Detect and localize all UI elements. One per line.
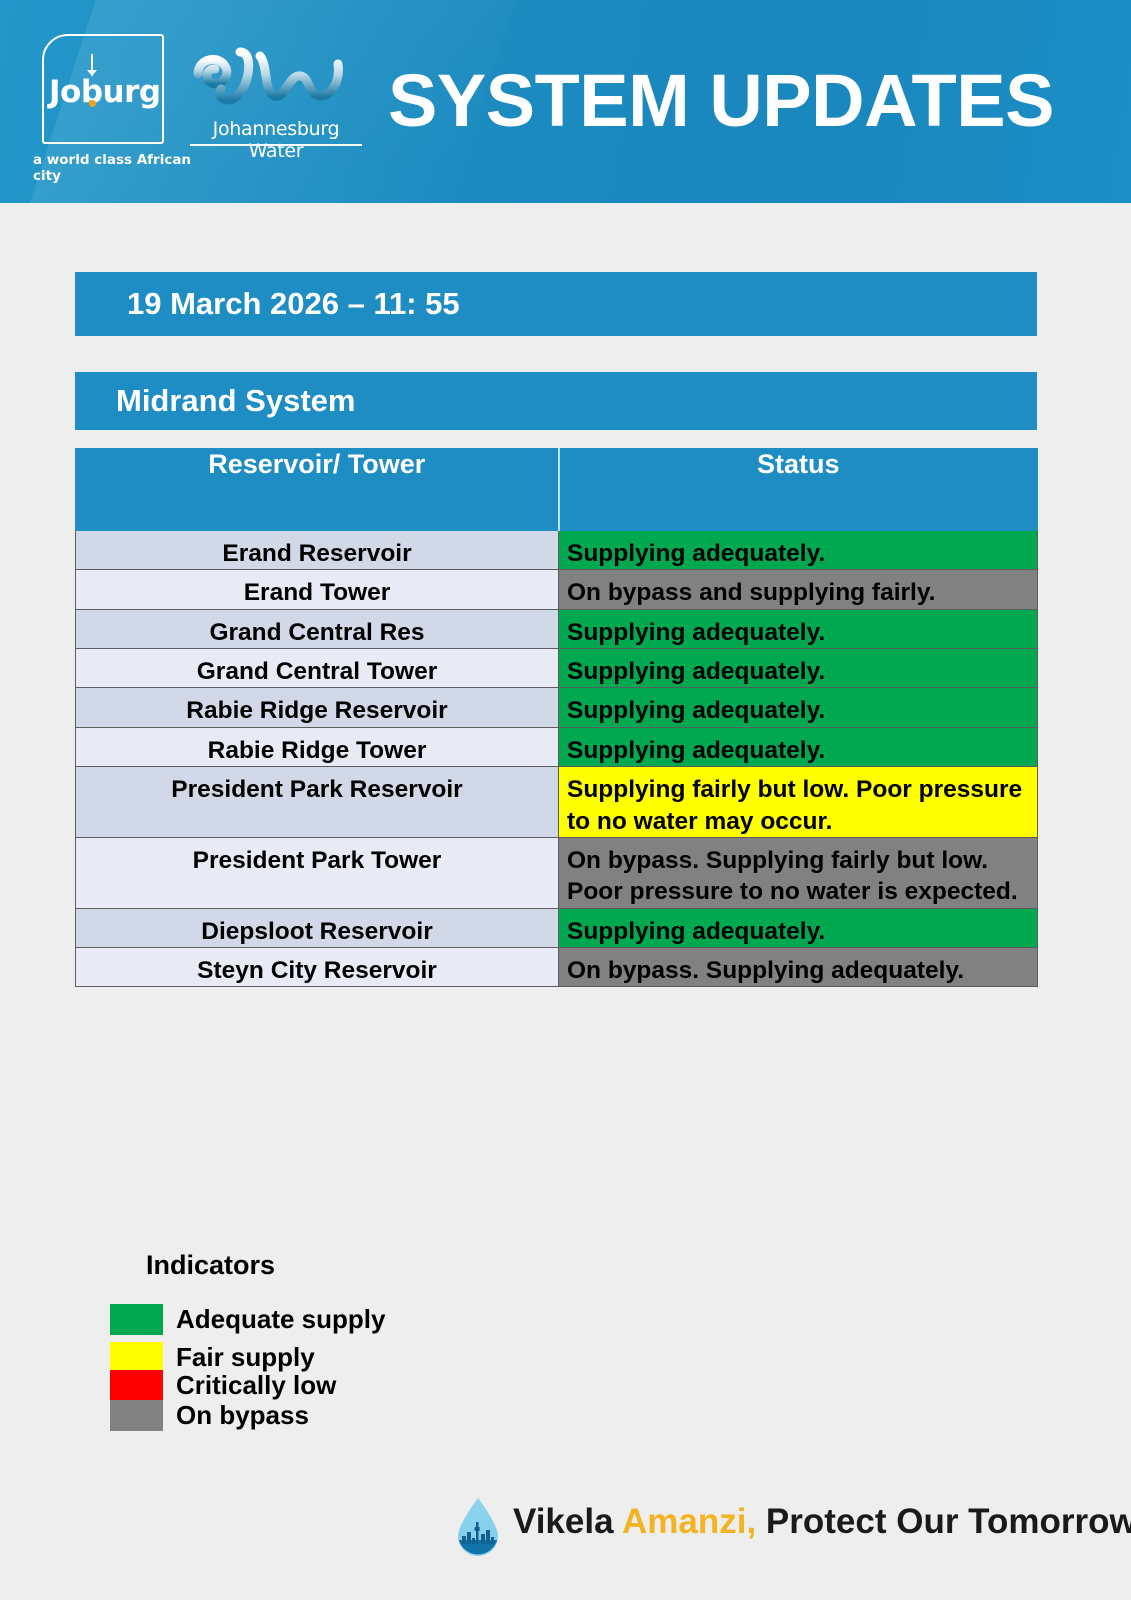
table-row: Erand TowerOn bypass and supplying fairl… — [76, 570, 1038, 609]
cell-reservoir-name: President Park Reservoir — [76, 767, 559, 838]
joburg-city-logo: Joburg a world class African city — [33, 32, 193, 172]
joburg-orange-dot-icon — [89, 100, 96, 107]
system-name-bar: Midrand System — [75, 372, 1037, 430]
cell-reservoir-name: Diepsloot Reservoir — [76, 908, 559, 947]
joburg-logo-wordmark: Joburg — [49, 74, 169, 110]
page-header-banner: Joburg a world class African city Johann… — [0, 0, 1131, 203]
cell-reservoir-name: Erand Reservoir — [76, 531, 559, 570]
legend-swatch-green — [110, 1304, 163, 1335]
table-row: Grand Central ResSupplying adequately. — [76, 609, 1038, 648]
table-row: President Park TowerOn bypass. Supplying… — [76, 837, 1038, 908]
legend-swatch-yellow — [110, 1342, 163, 1373]
legend-label-on-bypass: On bypass — [163, 1400, 309, 1431]
cell-status-grey: On bypass. Supplying adequately. — [559, 947, 1038, 986]
table-body: Erand ReservoirSupplying adequately.Eran… — [76, 531, 1038, 987]
johannesburg-water-wordmark: Johannesburg Water — [188, 118, 364, 162]
joburg-pin-icon — [91, 54, 93, 76]
footer-slogan-part1: Vikela — [513, 1502, 622, 1541]
cell-reservoir-name: Erand Tower — [76, 570, 559, 609]
legend-label-critically-low: Critically low — [163, 1370, 336, 1401]
cell-status-green: Supplying adequately. — [559, 531, 1038, 570]
cell-reservoir-name: Steyn City Reservoir — [76, 947, 559, 986]
table-row: Rabie Ridge ReservoirSupplying adequatel… — [76, 688, 1038, 727]
cell-status-green: Supplying adequately. — [559, 609, 1038, 648]
footer-slogan-accent: Amanzi, — [622, 1502, 756, 1541]
table-row: Steyn City ReservoirOn bypass. Supplying… — [76, 947, 1038, 986]
table-header-row: Reservoir/ Tower Status — [76, 449, 1038, 531]
table-row: Erand ReservoirSupplying adequately. — [76, 531, 1038, 570]
johannesburg-water-logo: Johannesburg Water — [188, 44, 364, 154]
table-row: Rabie Ridge TowerSupplying adequately. — [76, 727, 1038, 766]
table-row: Grand Central TowerSupplying adequately. — [76, 649, 1038, 688]
footer-slogan: Vikela Amanzi, Protect Our Tomorrow — [513, 1502, 1131, 1542]
system-updates-page: Joburg a world class African city Johann… — [0, 0, 1131, 1600]
joburg-tagline: a world class African city — [33, 152, 208, 184]
cell-reservoir-name: Rabie Ridge Reservoir — [76, 688, 559, 727]
table-row: President Park ReservoirSupplying fairly… — [76, 767, 1038, 838]
cell-status-green: Supplying adequately. — [559, 908, 1038, 947]
cell-reservoir-name: Rabie Ridge Tower — [76, 727, 559, 766]
cell-status-grey: On bypass. Supplying fairly but low. Poo… — [559, 837, 1038, 908]
table-row: Diepsloot ReservoirSupplying adequately. — [76, 908, 1038, 947]
cell-status-yellow: Supplying fairly but low. Poor pressure … — [559, 767, 1038, 838]
legend-item-on-bypass: On bypass — [110, 1400, 309, 1431]
legend-item-fair-supply: Fair supply — [110, 1342, 315, 1373]
water-wave-icon — [188, 44, 364, 122]
page-footer: Vikela Amanzi, Protect Our Tomorrow — [455, 1492, 1131, 1566]
legend-item-adequate-supply: Adequate supply — [110, 1304, 385, 1335]
logo-underline-divider — [190, 144, 362, 146]
cell-status-green: Supplying adequately. — [559, 688, 1038, 727]
cell-status-green: Supplying adequately. — [559, 649, 1038, 688]
page-title: SYSTEM UPDATES — [388, 58, 1054, 143]
legend-label-adequate-supply: Adequate supply — [163, 1304, 385, 1335]
cell-reservoir-name: President Park Tower — [76, 837, 559, 908]
reservoir-status-table: Reservoir/ Tower Status Erand ReservoirS… — [75, 448, 1038, 987]
legend-swatch-red — [110, 1370, 163, 1401]
cell-reservoir-name: Grand Central Res — [76, 609, 559, 648]
water-drop-city-icon — [455, 1496, 501, 1558]
legend-label-fair-supply: Fair supply — [163, 1342, 315, 1373]
legend-swatch-grey — [110, 1400, 163, 1431]
cell-status-green: Supplying adequately. — [559, 727, 1038, 766]
legend-item-critically-low: Critically low — [110, 1370, 336, 1401]
cell-status-grey: On bypass and supplying fairly. — [559, 570, 1038, 609]
column-header-status: Status — [559, 449, 1038, 531]
cell-reservoir-name: Grand Central Tower — [76, 649, 559, 688]
footer-slogan-part3: Protect Our Tomorrow — [756, 1502, 1131, 1541]
indicators-title: Indicators — [146, 1250, 275, 1281]
date-time-bar: 19 March 2026 – 11: 55 — [75, 272, 1037, 336]
column-header-reservoir-tower: Reservoir/ Tower — [76, 449, 559, 531]
